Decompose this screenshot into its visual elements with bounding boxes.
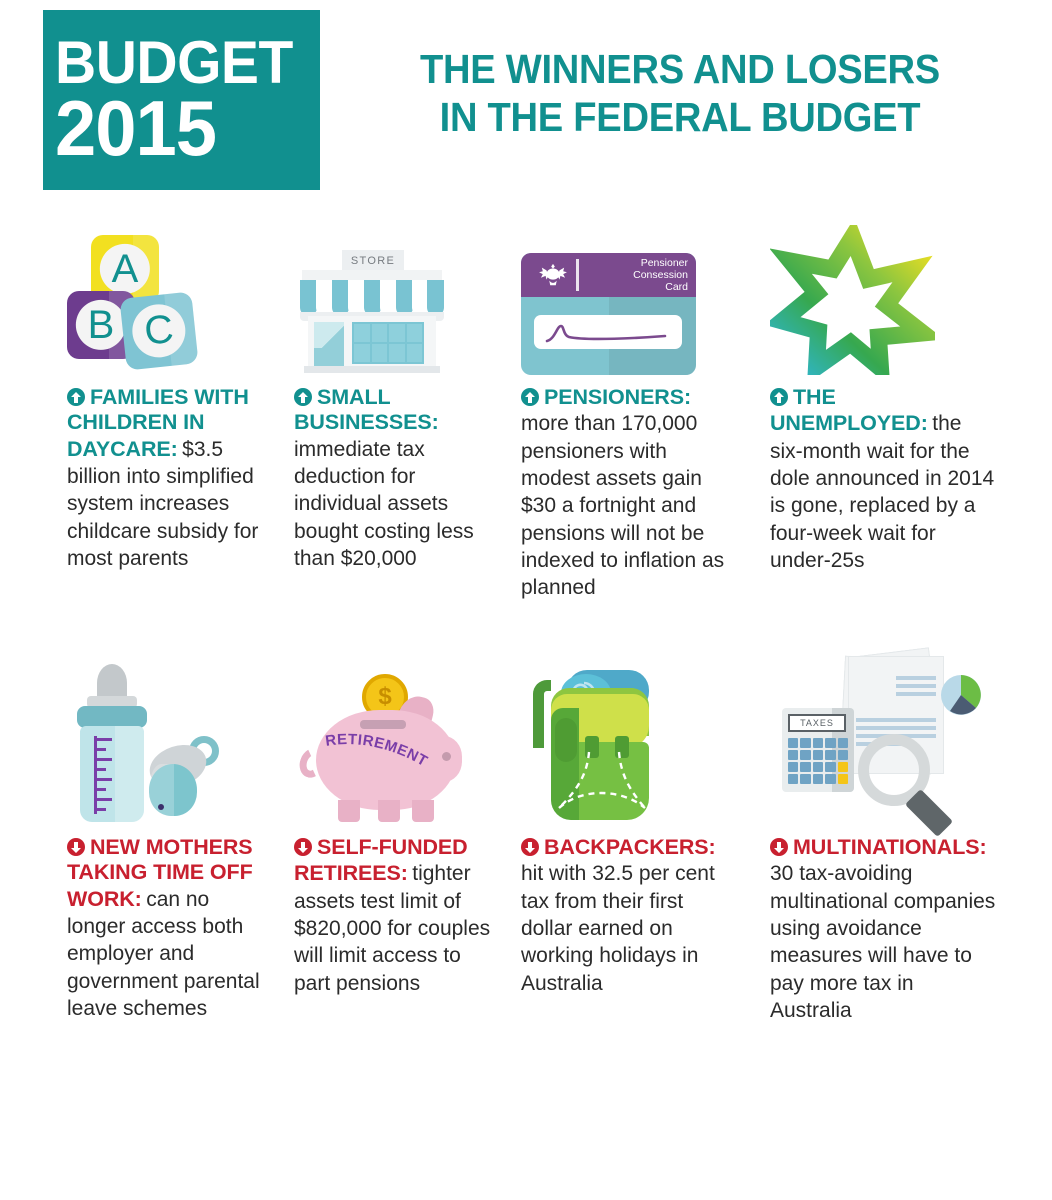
- card-backpackers: BACKPACKERS: hit with 32.5 per cent tax …: [521, 650, 739, 997]
- up-arrow-circle-icon: [521, 388, 539, 406]
- svg-text:RETIREMENT: RETIREMENT: [324, 732, 430, 770]
- block-c: C: [119, 291, 198, 370]
- store-door: [314, 322, 344, 370]
- seven-point-star-icon: [770, 225, 935, 375]
- retirement-label: RETIREMENT: [322, 732, 450, 786]
- card-copy: FAMILIES WITH CHILDREN IN DAYCARE: $3.5 …: [67, 385, 272, 572]
- card-copy: NEW MOTHERS TAKING TIME OFF WORK: can no…: [67, 835, 272, 1022]
- down-arrow-circle-icon: [294, 838, 312, 856]
- card-copy: MULTINATIONALS: 30 tax-avoiding multinat…: [770, 835, 998, 1024]
- budget-word: BUDGET: [55, 34, 307, 91]
- card-type-label: Pensioner Consession Card: [633, 258, 688, 294]
- card-heading: MULTINATIONALS:: [793, 835, 987, 859]
- page-title: THE WINNERS AND LOSERS IN THE FEDERAL BU…: [364, 45, 996, 142]
- backpack-icon: [521, 660, 681, 825]
- card-heading: PENSIONERS:: [544, 385, 691, 409]
- card-body: more than 170,000 pensioners with modest…: [521, 412, 724, 599]
- down-arrow-circle-icon: [67, 838, 85, 856]
- icon-container: [67, 650, 272, 825]
- calculator-icon: TAXES: [782, 708, 854, 792]
- icon-container: A B C: [67, 200, 272, 375]
- magnifier-handle: [905, 789, 953, 837]
- card-small-businesses: STORE: [294, 200, 499, 572]
- up-arrow-circle-icon: [770, 388, 788, 406]
- backpack-strap: [533, 680, 551, 748]
- calculator-keys: [788, 738, 848, 784]
- losers-row: NEW MOTHERS TAKING TIME OFF WORK: can no…: [0, 650, 1052, 1120]
- coat-of-arms-icon: [539, 262, 567, 288]
- calculator-display: TAXES: [788, 714, 846, 732]
- up-arrow-circle-icon: [294, 388, 312, 406]
- up-arrow-circle-icon: [67, 388, 85, 406]
- store-sign-label: STORE: [342, 250, 404, 272]
- card-body: hit with 32.5 per cent tax from their fi…: [521, 862, 715, 994]
- icon-container: STORE: [294, 200, 499, 375]
- card-body: the six-month wait for the dole announce…: [770, 412, 994, 571]
- budget-title-badge: BUDGET 2015: [43, 10, 320, 190]
- card-copy: SMALL BUSINESSES: immediate tax deductio…: [294, 385, 499, 572]
- card-body: immediate tax deduction for individual a…: [294, 438, 474, 570]
- icon-container: TAXES: [770, 650, 998, 825]
- card-the-unemployed: THE UNEMPLOYED: the six-month wait for t…: [770, 200, 998, 574]
- icon-container: $ RETIREMENT: [294, 650, 499, 825]
- header: BUDGET 2015 THE WINNERS AND LOSERS IN TH…: [0, 0, 1052, 200]
- backpack-stitching: [551, 748, 649, 820]
- storefront-icon: STORE: [294, 250, 449, 375]
- card-heading: THE UNEMPLOYED:: [770, 385, 928, 435]
- card-new-mothers: NEW MOTHERS TAKING TIME OFF WORK: can no…: [67, 650, 272, 1022]
- calculator-documents-magnifier-icon: TAXES: [770, 650, 970, 825]
- store-awning: [300, 280, 444, 316]
- down-arrow-circle-icon: [521, 838, 539, 856]
- card-header-band: Pensioner Consession Card: [521, 253, 696, 297]
- pacifier-nipple: [149, 764, 197, 816]
- card-body: 30 tax-avoiding multinational companies …: [770, 862, 995, 1021]
- page-title-line2: IN THE FEDERAL BUDGET: [364, 93, 996, 141]
- card-heading: SMALL BUSINESSES:: [294, 385, 439, 434]
- piggy-bank-icon: $ RETIREMENT: [294, 670, 479, 825]
- down-arrow-circle-icon: [770, 838, 788, 856]
- budget-year: 2015: [55, 91, 307, 165]
- pie-chart-icon: [940, 674, 982, 716]
- icon-container: Pensioner Consession Card: [521, 200, 739, 375]
- baby-bottle-pacifier-icon: [67, 660, 237, 825]
- cards-grid: A B C FAMILIES: [0, 200, 1052, 1120]
- winners-row: A B C FAMILIES: [0, 200, 1052, 650]
- pensioner-concession-card-icon: Pensioner Consession Card: [521, 253, 696, 375]
- card-copy: SELF-FUNDED RETIREES: tighter assets tes…: [294, 835, 499, 997]
- icon-container: [770, 200, 998, 375]
- card-pensioners: Pensioner Consession Card: [521, 200, 739, 601]
- card-heading: BACKPACKERS:: [544, 835, 716, 859]
- card-multinationals: TAXES: [770, 650, 998, 1024]
- card-copy: PENSIONERS: more than 170,000 pensioners…: [521, 385, 739, 601]
- card-self-funded-retirees: $ RETIREMENT: [294, 650, 499, 997]
- card-copy: BACKPACKERS: hit with 32.5 per cent tax …: [521, 835, 739, 997]
- signature-icon: [543, 323, 671, 345]
- abc-blocks-icon: A B C: [67, 235, 187, 375]
- page-title-line1: THE WINNERS AND LOSERS: [420, 46, 940, 92]
- icon-container: [521, 650, 739, 825]
- card-families-daycare: A B C FAMILIES: [67, 200, 272, 572]
- card-copy: THE UNEMPLOYED: the six-month wait for t…: [770, 385, 998, 574]
- infographic-page: BUDGET 2015 THE WINNERS AND LOSERS IN TH…: [0, 0, 1052, 1200]
- store-window: [352, 322, 424, 364]
